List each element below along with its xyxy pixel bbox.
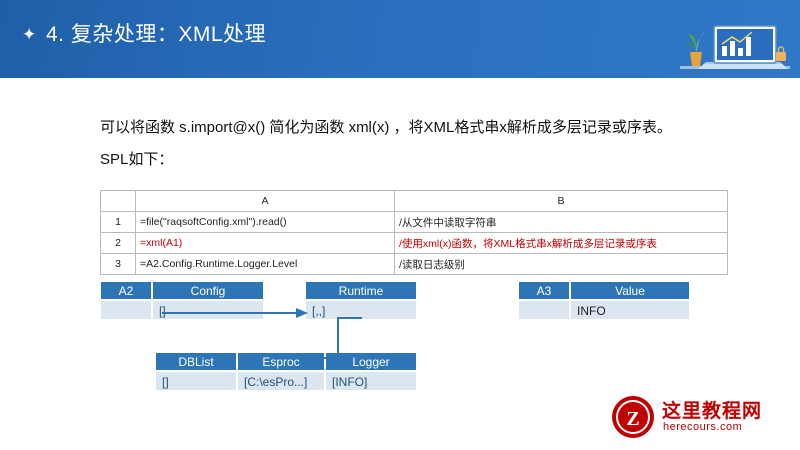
cell-a2: =xml(A1) [136, 233, 395, 254]
table-row: 1 =file("raqsoftConfig.xml").read() /从文件… [101, 212, 728, 233]
cell-b1: /从文件中读取字符串 [395, 212, 728, 233]
a3-header-row: A3 Value [518, 281, 690, 300]
esproc-value-cell: [C:\esPro...] [237, 371, 325, 391]
circle-z-logo-icon: Z [610, 394, 656, 440]
runtime-table: Runtime [,,] [305, 281, 417, 320]
config-label: Config [152, 281, 264, 300]
esproc-label: Esproc [237, 352, 325, 371]
column-header-b: B [395, 191, 728, 212]
logo-name: 这里教程网 [662, 396, 762, 423]
column-header-a: A [136, 191, 395, 212]
row-number: 1 [101, 212, 136, 233]
corner-cell [101, 191, 136, 212]
a2-config-table: A2 Config [] [100, 281, 264, 320]
slide-header: ✦ 4. 复杂处理：XML处理 [0, 0, 800, 78]
row-number: 2 [101, 233, 136, 254]
value-label: Value [570, 281, 690, 300]
a2-header-row: A2 Config [100, 281, 264, 300]
runtime-value-cell: [,,] [305, 300, 417, 320]
page-title: 4. 复杂处理：XML处理 [46, 18, 266, 52]
config-value-cell: [] [152, 300, 264, 320]
row-number: 3 [101, 254, 136, 275]
body-paragraph: 可以将函数 s.import@x() 简化为函数 xml(x) ，将XML格式串… [100, 112, 700, 176]
cell-b3: /读取日志级别 [395, 254, 728, 275]
spl-code-table: A B 1 =file("raqsoftConfig.xml").read() … [100, 190, 728, 275]
a3-blank-cell [518, 300, 570, 320]
a3-value-row: INFO [518, 300, 690, 320]
cell-a1: =file("raqsoftConfig.xml").read() [136, 212, 395, 233]
cell-b2: /使用xml(x)函数，将XML格式串x解析成多层记录或序表 [395, 233, 728, 254]
logger-value-row: [] [C:\esPro...] [INFO] [155, 371, 417, 391]
dblist-label: DBList [155, 352, 237, 371]
svg-text:Z: Z [626, 408, 639, 430]
dblist-value-cell: [] [155, 371, 237, 391]
cell-a3: =A2.Config.Runtime.Logger.Level [136, 254, 395, 275]
a3-label: A3 [518, 281, 570, 300]
table-row: 3 =A2.Config.Runtime.Logger.Level /读取日志级… [101, 254, 728, 275]
logo-url: herecours.com [663, 421, 742, 433]
logger-label: Logger [325, 352, 417, 371]
runtime-label: Runtime [305, 281, 417, 300]
a2-blank-cell [100, 300, 152, 320]
a3-value-table: A3 Value INFO [518, 281, 690, 320]
a2-label: A2 [100, 281, 152, 300]
logger-value-cell: [INFO] [325, 371, 417, 391]
site-logo[interactable]: Z 这里教程网 herecours.com [610, 394, 790, 442]
a2-value-row: [] [100, 300, 264, 320]
logger-table: DBList Esproc Logger [] [C:\esPro...] [I… [155, 352, 417, 391]
logger-header-row: DBList Esproc Logger [155, 352, 417, 371]
table-row: 2 =xml(A1) /使用xml(x)函数，将XML格式串x解析成多层记录或序… [101, 233, 728, 254]
sparkle-icon: ✦ [22, 26, 36, 43]
laptop-plant-illustration [676, 4, 794, 78]
value-cell: INFO [570, 300, 690, 320]
table-header-row: A B [101, 191, 728, 212]
